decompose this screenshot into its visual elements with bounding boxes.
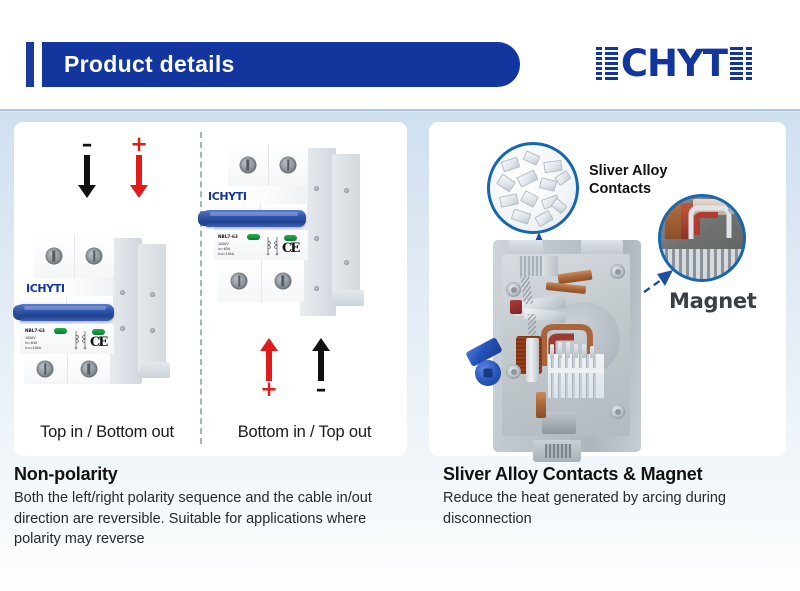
device-vent-slot — [344, 188, 349, 193]
arrow-down-black — [78, 155, 96, 198]
arrow-shaft — [136, 155, 142, 185]
arc-plate — [565, 354, 568, 398]
device-vent-slot — [314, 286, 319, 291]
status-indicator — [92, 329, 105, 335]
terminal-block-top — [228, 144, 308, 186]
terminal-screw — [231, 273, 248, 290]
cutaway-housing — [493, 240, 641, 452]
status-indicator — [284, 235, 297, 241]
terminal-block-bottom — [218, 260, 304, 302]
din-rail-clip — [332, 290, 364, 306]
arrow-head — [312, 338, 330, 351]
handle-end-cap — [198, 211, 210, 226]
arc-finger — [574, 344, 578, 358]
contact-chip — [543, 160, 562, 173]
callout-label-magnet: Magnet — [669, 288, 757, 314]
callout-label-contacts: Sliver Alloy Contacts — [589, 162, 667, 198]
terminal-screw — [80, 361, 97, 378]
label-model: NBL7-63 — [25, 328, 45, 333]
housing-top-lug — [509, 240, 543, 254]
contact-chip — [511, 208, 532, 224]
terminal-pole-2 — [269, 144, 309, 186]
callout-label-contacts-line1: Sliver Alloy — [589, 162, 667, 180]
terminal-pole-1 — [24, 354, 68, 384]
terminal-block-bottom — [24, 354, 110, 384]
contact-chip — [550, 198, 567, 215]
terminal-screw — [37, 361, 54, 378]
housing-boss — [506, 282, 521, 297]
contact-chip — [496, 174, 516, 193]
arrow-down-red — [130, 155, 148, 198]
ce-mark: CE — [90, 336, 106, 349]
device-label-plate: NBL7-63 1000V In=63A Icu=10kA CE — [214, 230, 308, 260]
arc-plate — [593, 354, 596, 398]
device-label-plate: NBL7-63 1000V In=63A Icu=10kA CE — [20, 324, 114, 354]
arc-plate — [572, 354, 575, 398]
terminal-screw — [280, 157, 297, 174]
housing-boss — [506, 364, 521, 379]
coil-plunger — [526, 338, 539, 382]
ce-mark: CE — [282, 242, 298, 255]
arc-finger — [590, 346, 594, 358]
terminal-pole-1 — [218, 260, 262, 302]
terminal-screw — [274, 273, 291, 290]
status-indicator — [247, 234, 260, 240]
arc-finger — [558, 342, 562, 358]
breaker-handle[interactable] — [16, 304, 114, 321]
device-vent-slot — [120, 326, 125, 331]
arrow-positive-up: + — [260, 334, 278, 396]
status-indicator — [54, 328, 67, 334]
arrow-negative-down: – — [78, 138, 96, 200]
cutaway-interior — [502, 254, 630, 436]
arc-plate — [558, 354, 561, 398]
terminal-screw — [239, 157, 256, 174]
logo-stripe-left — [605, 47, 618, 81]
arrow-positive-down: + — [130, 138, 148, 200]
device-vent-slot — [344, 260, 349, 265]
caption-body: Both the left/right polarity sequence an… — [14, 488, 414, 550]
copper-strap-top — [557, 270, 592, 285]
sign-positive: + — [130, 138, 148, 151]
contact-chip — [539, 177, 557, 192]
label-spec-3: Icu=10kA — [25, 346, 41, 351]
arrow-group-bottom: + – — [220, 334, 370, 396]
contact-chip — [499, 193, 519, 208]
handle-end-cap — [13, 305, 25, 320]
terminal-pole-2 — [68, 354, 111, 384]
terminal-block-top — [34, 234, 114, 278]
terminal-pole-1 — [228, 144, 269, 186]
arc-finger — [566, 342, 570, 358]
caption-title: Non-polarity — [14, 464, 414, 485]
housing-top-lug-2 — [581, 240, 623, 254]
caption-contacts-magnet: Sliver Alloy Contacts & Magnet Reduce th… — [443, 464, 788, 529]
contact-chip — [534, 210, 553, 228]
header-title-bar: Product details — [42, 42, 520, 87]
trip-indicator — [510, 300, 522, 314]
device-side-body-2 — [332, 154, 360, 304]
housing-boss — [610, 264, 625, 279]
contact-chip — [517, 169, 539, 187]
chyt-logo: CHYT — [596, 43, 752, 85]
arc-chamber-gap — [548, 368, 604, 373]
header-accent-bar — [26, 42, 34, 87]
arc-plate — [551, 354, 554, 398]
caption-body: Reduce the heat generated by arcing duri… — [443, 488, 788, 529]
breaker-device-b: ICHYTI NBL7-63 1000V In=63A Icu=10kA — [214, 140, 404, 332]
device-side-body-2 — [138, 244, 166, 372]
breaker-device-a: ICHYTI NBL7-63 1000V In=63A Icu=10kA — [20, 222, 198, 387]
callout-sliver-alloy-contacts — [487, 142, 579, 234]
arc-chamber — [548, 354, 604, 398]
device-brand-label: ICHYTI — [208, 190, 247, 203]
device-vent-slot — [150, 328, 155, 333]
arrow-group-top: – + — [38, 138, 188, 200]
arrow-head — [260, 338, 278, 351]
device-vent-slot — [120, 290, 125, 295]
contact-chip — [523, 150, 541, 165]
sign-positive: + — [260, 383, 278, 396]
arrow-head — [78, 185, 96, 198]
device-vent-slot — [314, 186, 319, 191]
device-vent-slot — [150, 292, 155, 297]
cutaway-handle-knob[interactable] — [475, 360, 501, 386]
magnet-copper-strip — [665, 197, 681, 239]
terminal-screw — [86, 248, 103, 265]
panel-contacts-magnet: Sliver Alloy Contacts Magnet — [429, 122, 786, 456]
page-title: Product details — [42, 51, 235, 78]
terminal-bottom-metal — [542, 412, 576, 434]
sign-negative: – — [82, 138, 93, 151]
terminal-screw — [45, 248, 62, 265]
label-spec-3: Icu=10kA — [218, 252, 234, 257]
contact-chip — [554, 170, 571, 186]
arrow-negative-up: – — [312, 334, 330, 396]
terminal-pole-2 — [75, 234, 115, 278]
magnet-pin — [728, 205, 737, 214]
breaker-illustration-top-in: – + — [14, 122, 200, 456]
terminal-pole-2 — [262, 260, 305, 302]
breaker-caption-b: Bottom in / Top out — [202, 423, 407, 442]
wiring-schematic-icon — [72, 328, 90, 350]
breaker-cutaway-view — [493, 240, 673, 452]
arc-finger — [582, 344, 586, 358]
logo-stripe-left-outer — [596, 47, 602, 81]
arc-plate — [586, 354, 589, 398]
arc-plate — [579, 354, 582, 398]
panel-non-polarity: – + — [14, 122, 407, 456]
contact-chip — [501, 157, 521, 173]
breaker-caption-a: Top in / Bottom out — [14, 423, 200, 442]
logo-stripe-right-outer — [746, 47, 752, 81]
housing-boss — [610, 404, 625, 419]
arrow-up-red — [260, 338, 278, 381]
arrow-head — [130, 185, 148, 198]
breaker-handle[interactable] — [202, 210, 306, 227]
page-header: Product details CHYT — [0, 0, 800, 111]
contact-chip — [520, 190, 539, 208]
copper-strap-mid — [546, 282, 587, 294]
device-brand-label: ICHYTI — [26, 282, 65, 295]
device-vent-slot — [314, 236, 319, 241]
din-rail-clip — [140, 362, 170, 378]
arc-finger — [550, 344, 554, 358]
arrow-shaft — [84, 155, 90, 185]
return-spring — [528, 314, 536, 336]
caption-non-polarity: Non-polarity Both the left/right polarit… — [14, 464, 414, 550]
wiring-schematic-icon — [264, 234, 282, 256]
solenoid-winding — [520, 256, 542, 276]
din-rail-spring — [545, 444, 571, 458]
callout-label-contacts-line2: Contacts — [589, 180, 667, 198]
arrow-up-black — [312, 338, 330, 381]
logo-wordmark: CHYT — [621, 47, 727, 81]
copper-link-bottom — [536, 392, 546, 418]
terminal-pole-1 — [34, 234, 75, 278]
breaker-illustration-bottom-in: ICHYTI NBL7-63 1000V In=63A Icu=10kA — [202, 122, 407, 456]
label-model: NBL7-63 — [218, 234, 238, 239]
logo-stripe-right — [730, 47, 743, 81]
sign-negative: – — [316, 383, 327, 396]
caption-title: Sliver Alloy Contacts & Magnet — [443, 464, 788, 485]
